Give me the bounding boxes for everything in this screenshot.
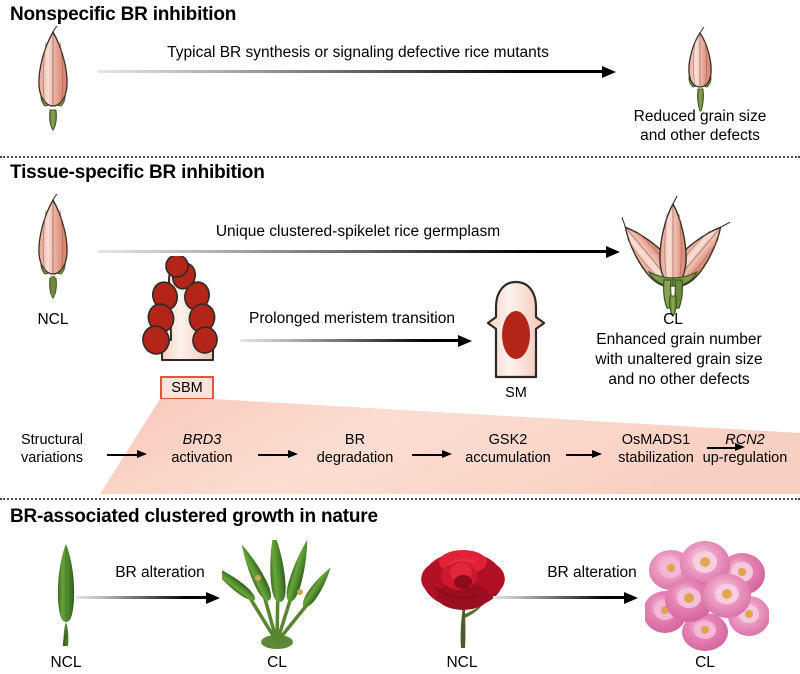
arrow-shaft (412, 454, 443, 456)
pathway-step-5: RCN2 up-regulation (690, 432, 800, 467)
arrow-head (137, 450, 147, 458)
arrow-label-prolonged-transition: Prolonged meristem transition (228, 310, 476, 328)
pathway-step-line2: accumulation (452, 450, 564, 468)
arrow-head (624, 592, 638, 604)
pathway-step-line1: RCN2 (690, 432, 800, 450)
panel-nature: BR-associated clustered growth in nature… (0, 500, 800, 674)
arrow-br-alteration-rose (493, 592, 638, 604)
rice-spikelet-cluster-icon (611, 196, 735, 318)
figure-root: Nonspecific BR inhibition (0, 0, 800, 674)
arrow-shaft (98, 250, 607, 253)
pathway-arrow-2 (412, 450, 452, 459)
spikelet-meristem-icon (481, 277, 551, 384)
arrow-prolonged-transition (240, 335, 472, 347)
arrow-shaft (493, 596, 625, 599)
arrow-head (458, 335, 472, 347)
label-ncl-pod: NCL (26, 653, 106, 672)
pathway-step-line2: variations (0, 450, 104, 468)
branched-spikelet-meristem-icon (137, 256, 241, 381)
label-ncl-rose: NCL (422, 653, 502, 672)
rice-spikelet-single-icon (28, 194, 78, 306)
pathway-arrow-3 (566, 450, 602, 459)
arrow-shaft (76, 596, 207, 599)
sbm-label-text: SBM (171, 380, 202, 396)
panel-nonspecific: Nonspecific BR inhibition (0, 0, 800, 158)
caption-enhanced-grain-line3: and no other defects (563, 370, 795, 389)
lobe (166, 256, 188, 277)
pathway-arrow-1 (258, 450, 298, 459)
rice-spikelet-single-icon (28, 26, 78, 138)
rice-spikelet-single-small-icon (679, 27, 721, 113)
arrow-shaft (240, 339, 459, 342)
pathway-step-line1: BRD3 (150, 432, 254, 450)
meristem-nucleus (502, 311, 530, 359)
arrow-head (442, 450, 452, 458)
caption-enhanced-grain-line1: Enhanced grain number (563, 330, 795, 349)
arrow-head (602, 66, 616, 78)
arrow-label-unique-germplasm: Unique clustered-spikelet rice germplasm (98, 223, 618, 241)
arrow-br-alteration-pod (76, 592, 220, 604)
caption-enhanced-grain-line2: with unaltered grain size (563, 350, 795, 369)
panel-title-tissue-specific: Tissue-specific BR inhibition (10, 162, 265, 184)
green-pod-cluster-icon (222, 540, 332, 652)
pathway-step-line1: Structural (0, 432, 104, 450)
pathway-step-1: BRD3 activation (150, 432, 254, 467)
caption-reduced-grain-size-line1: Reduced grain size (590, 107, 800, 126)
label-cl-spikelet: CL (633, 310, 713, 329)
label-cl-pod: CL (237, 653, 317, 672)
pathway-step-2: BR degradation (300, 432, 410, 467)
arrow-head (288, 450, 298, 458)
label-cl-rose: CL (665, 653, 745, 672)
arrow-label-typical-br: Typical BR synthesis or signaling defect… (98, 44, 618, 62)
panel-tissue-specific: Tissue-specific BR inhibition (0, 158, 800, 494)
panel-title-nature: BR-associated clustered growth in nature (10, 506, 378, 528)
sbm-label-box: SBM (160, 376, 214, 400)
pathway-step-line1: BR (300, 432, 410, 450)
pathway-step-line2: up-regulation (690, 450, 800, 468)
arrow-label-br-alteration-rose: BR alteration (522, 564, 662, 582)
arrow-nonspecific (98, 66, 616, 78)
panel-title-nonspecific: Nonspecific BR inhibition (10, 4, 236, 26)
pathway-step-line1: GSK2 (452, 432, 564, 450)
arrow-shaft (258, 454, 289, 456)
arrow-head (206, 592, 220, 604)
pathway-arrow-0 (107, 450, 147, 459)
pathway-step-line2: activation (150, 450, 254, 468)
pathway-step-0: Structural variations (0, 432, 104, 467)
label-ncl-spikelet: NCL (13, 310, 93, 329)
pathway-step-line2: degradation (300, 450, 410, 468)
arrow-label-br-alteration-pod: BR alteration (90, 564, 230, 582)
caption-reduced-grain-size-line2: and other defects (590, 126, 800, 145)
arrow-shaft (107, 454, 138, 456)
arrow-shaft (98, 70, 603, 73)
arrow-shaft (566, 454, 593, 456)
pink-rose-cluster-icon (645, 530, 769, 652)
pathway-step-3: GSK2 accumulation (452, 432, 564, 467)
